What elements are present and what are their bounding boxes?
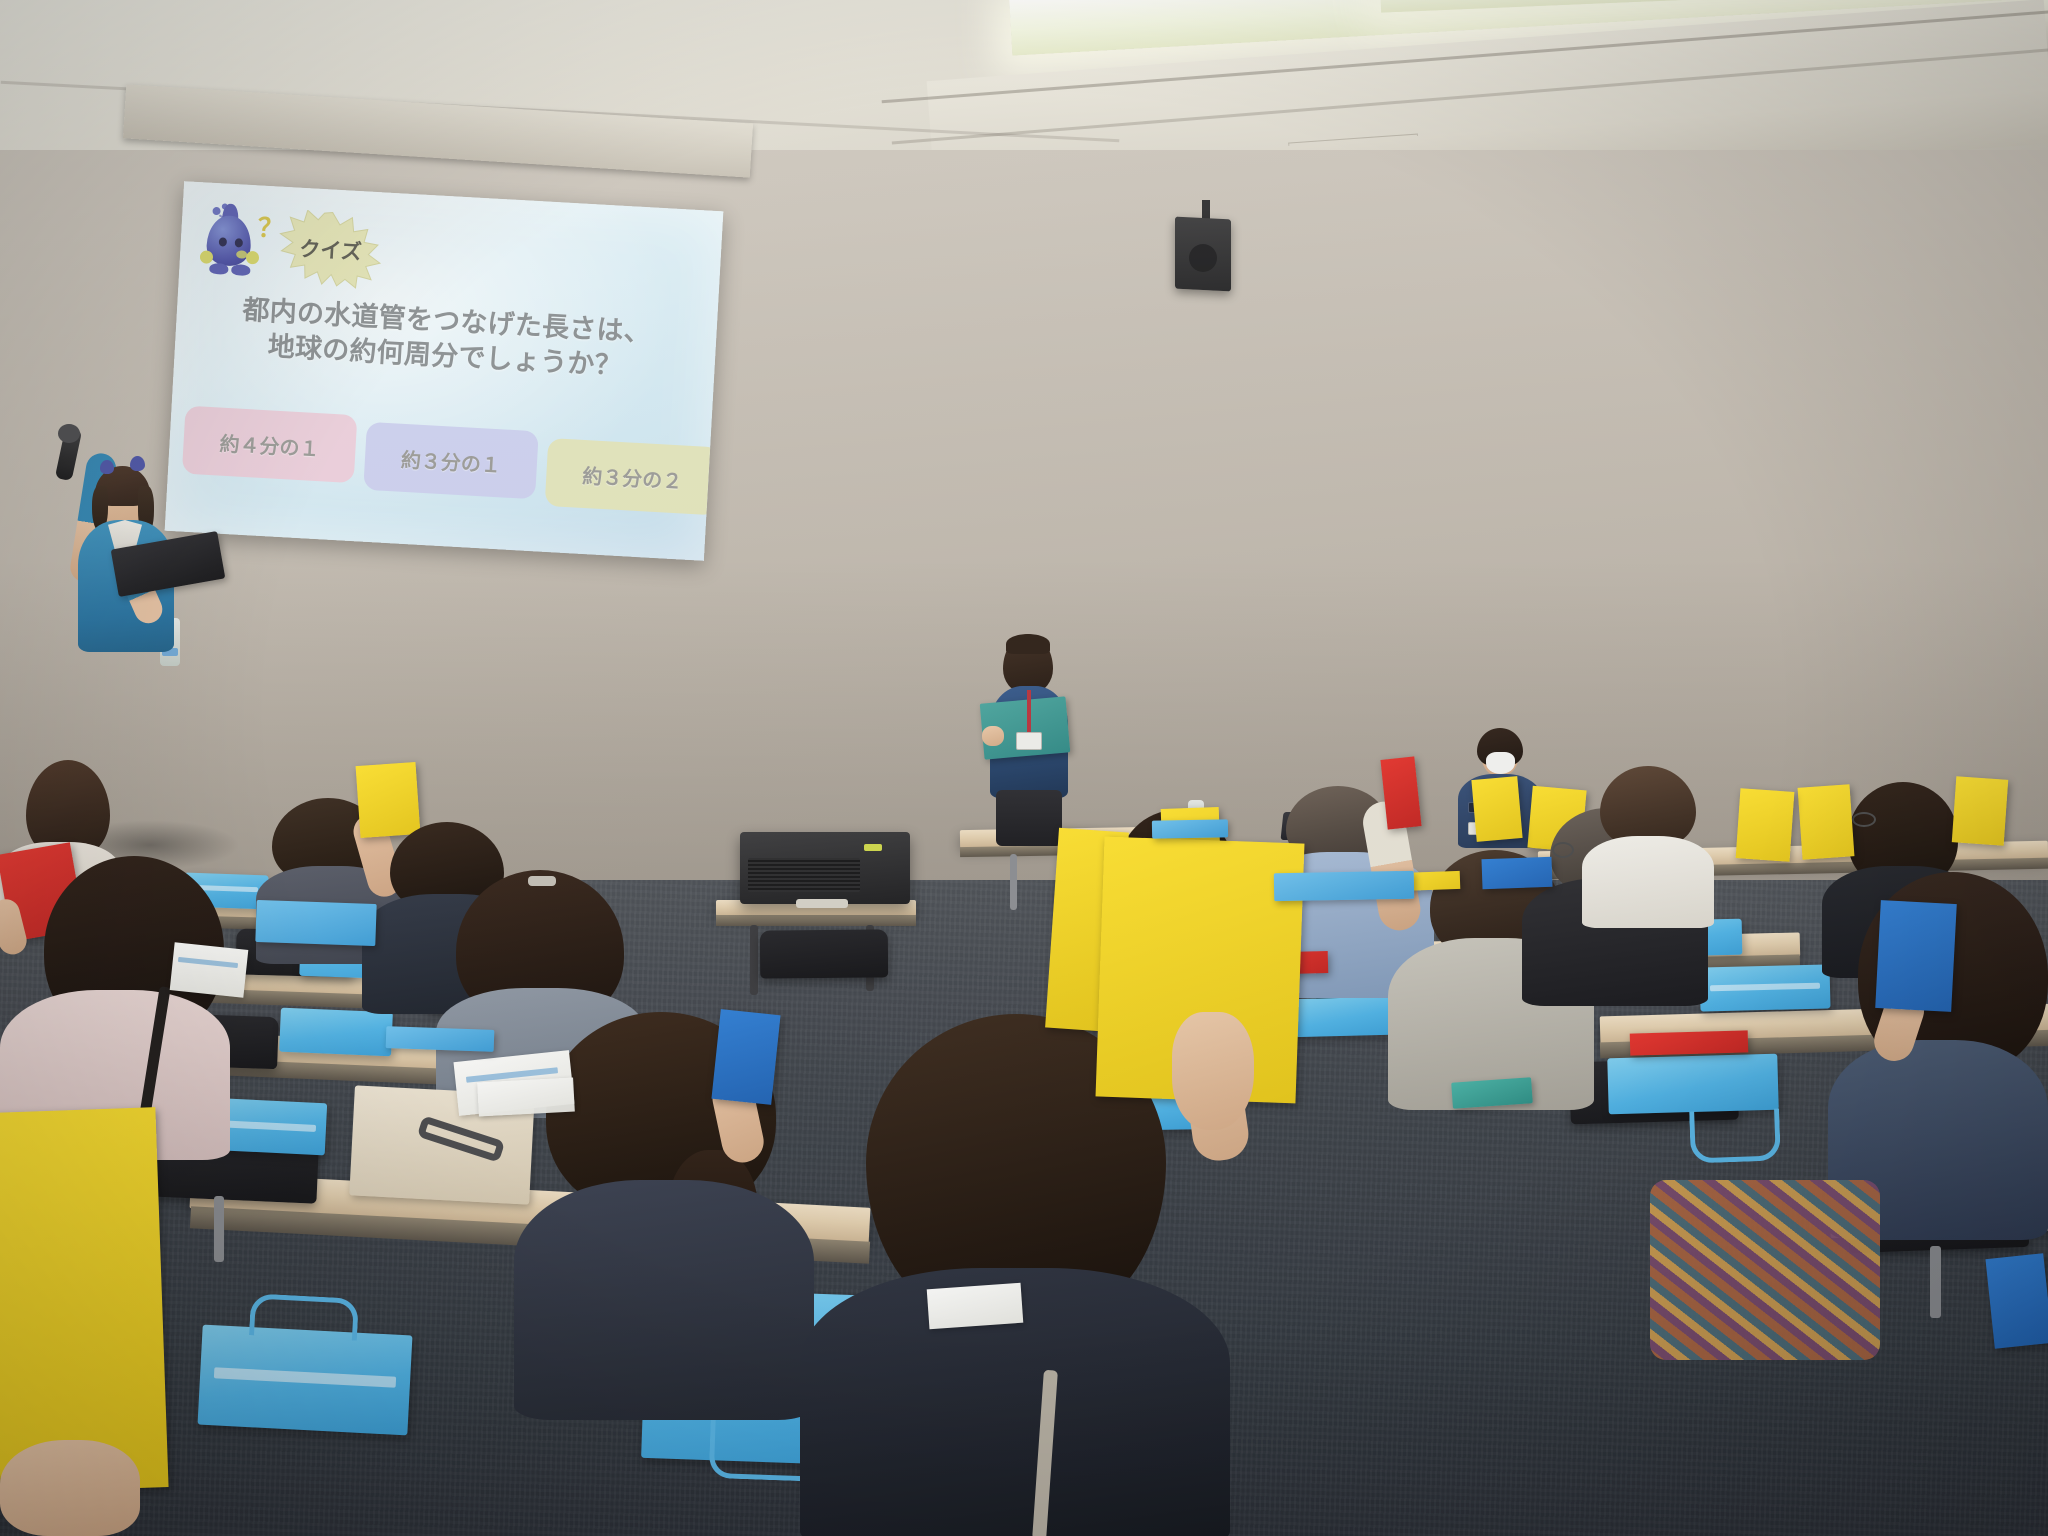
answer-option-c-label: 約３分の２ xyxy=(582,459,683,494)
mascot-foot-left xyxy=(209,263,229,275)
projector-table-edge xyxy=(716,915,916,926)
chair-center-back[interactable] xyxy=(760,929,888,978)
projector-vent xyxy=(748,858,860,892)
handout-on-desk-2 xyxy=(170,942,249,997)
front-table-leg xyxy=(1010,854,1017,910)
answer-option-b-label: 約３分の１ xyxy=(400,443,501,478)
foreground-hand xyxy=(0,1440,140,1536)
answer-card-yellow-foreground xyxy=(0,1107,169,1493)
answer-option-b[interactable]: 約３分の１ xyxy=(363,422,539,499)
presenter-3-face-mask xyxy=(1486,752,1515,774)
chair-front-left-leg xyxy=(214,1196,224,1262)
handout-on-desk-3 xyxy=(927,1283,1024,1329)
presenter-2-id-badge xyxy=(1016,732,1042,750)
quiz-badge: クイズ xyxy=(271,208,391,290)
answer-card-yellow-4 xyxy=(1952,776,2008,845)
presenter-1-headband-drop-r xyxy=(130,456,145,471)
mascot-foot-right xyxy=(231,264,251,276)
tote-bag-12 xyxy=(1607,1054,1778,1115)
presenter-2-hand xyxy=(982,726,1004,746)
attendee-pattern-body xyxy=(1650,1180,1880,1360)
answer-option-a[interactable]: 約４分の１ xyxy=(182,406,358,483)
speaker-driver-icon xyxy=(1189,244,1217,272)
teal-card-foreground xyxy=(1451,1077,1533,1109)
answer-card-red-2 xyxy=(1380,756,1421,829)
mascot-hand-right xyxy=(246,251,260,265)
water-drop-mascot-icon: ？ xyxy=(198,200,279,288)
attendee-fg-center-hand xyxy=(1172,1012,1254,1130)
attendee-longhair-clip xyxy=(528,876,556,886)
tote-bag-6-handle xyxy=(249,1293,359,1341)
projection-screen: ？ クイズ 都内の水道管をつなげた長さは、 地球の約何周分でしょうか？ 約４分の… xyxy=(165,181,724,561)
blue-folder-3 xyxy=(386,1026,495,1052)
tote-bag-3 xyxy=(279,1008,393,1057)
presenter-1-headband-drop-l xyxy=(100,460,114,474)
answer-card-yellow-5 xyxy=(1471,776,1522,842)
answer-card-yellow-6 xyxy=(1736,788,1795,862)
attendee-glasses-icon xyxy=(1552,842,1574,858)
handout-front-desk xyxy=(477,1078,575,1117)
presenter-2-hair-front xyxy=(1006,634,1050,654)
mascot-hand-left xyxy=(200,250,214,264)
projector-indicator xyxy=(864,844,882,851)
presenter-2-lanyard xyxy=(1027,690,1031,734)
presenter-2-lower xyxy=(996,790,1062,846)
answer-card-red-4 xyxy=(1630,1030,1749,1055)
projector-remote-icon xyxy=(796,899,848,908)
blue-folder-4 xyxy=(1152,819,1228,838)
quiz-badge-label: クイズ xyxy=(299,233,363,266)
photo-scene: ？ クイズ 都内の水道管をつなげた長さは、 地球の約何周分でしょうか？ 約４分の… xyxy=(0,0,2048,1536)
attendee-glasses2-icon xyxy=(1852,812,1876,827)
blue-folder-2 xyxy=(1274,871,1414,901)
projector-table-leg-left xyxy=(750,925,758,995)
attendee-ponytail-torso xyxy=(514,1180,814,1420)
answer-card-yellow-3 xyxy=(1798,784,1855,859)
tote-bag-9 xyxy=(1282,997,1399,1038)
answer-card-yellow-1 xyxy=(356,762,421,838)
answer-card-blue-3 xyxy=(1481,857,1552,889)
chair-far-right-leg xyxy=(1930,1246,1941,1318)
answer-card-blue-foreground xyxy=(1985,1253,2048,1349)
tote-bag-12-handle xyxy=(1689,1108,1781,1163)
answer-card-blue-2 xyxy=(1875,900,1957,1012)
attendee-white-torso xyxy=(1582,836,1714,928)
answer-option-c[interactable]: 約３分の２ xyxy=(545,438,721,515)
blue-folder-1 xyxy=(255,900,376,946)
answer-option-a-label: 約４分の１ xyxy=(219,427,320,462)
microphone-head xyxy=(58,424,80,443)
answer-card-blue-1 xyxy=(711,1009,780,1105)
